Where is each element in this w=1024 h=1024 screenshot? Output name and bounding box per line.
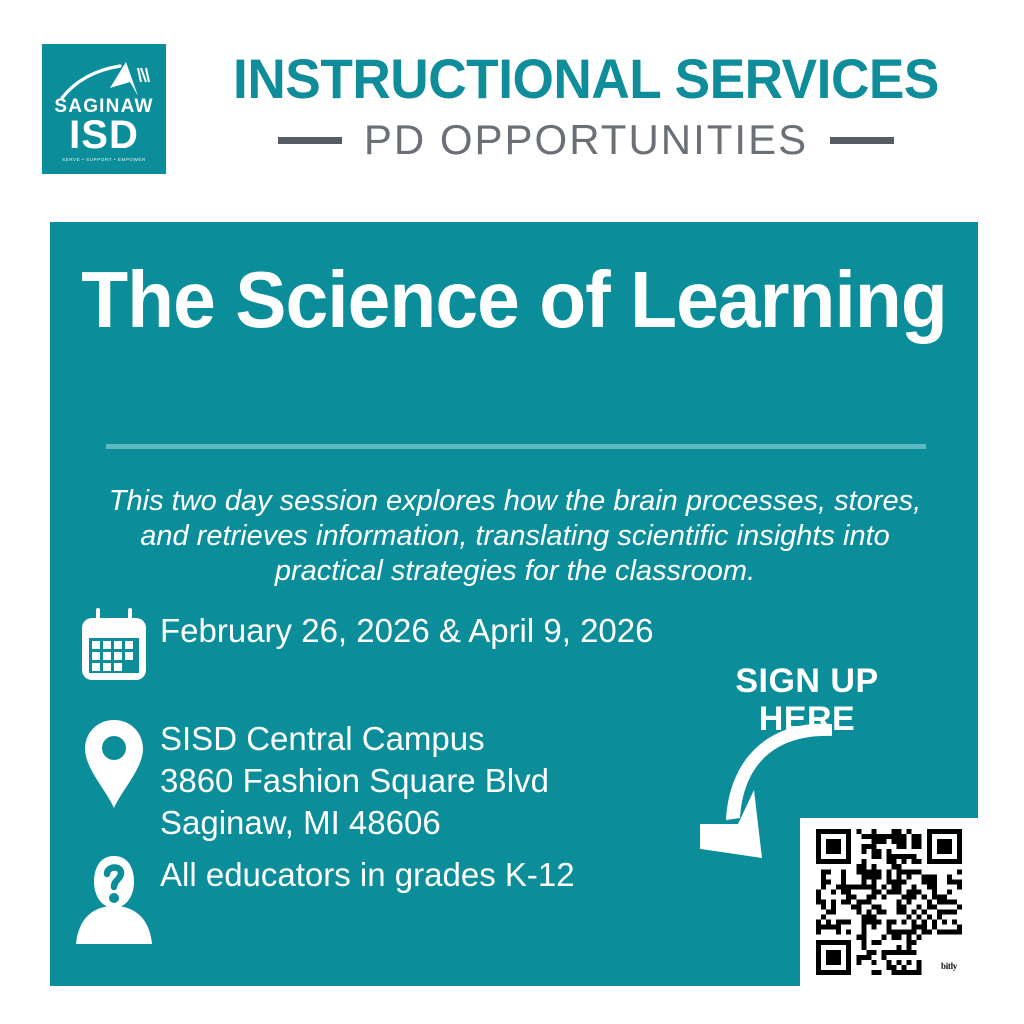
section-divider [106, 444, 926, 449]
qr-code[interactable] [816, 829, 962, 975]
left-dash-divider [278, 137, 342, 144]
subtitle-row: PD OPPORTUNITIES [190, 116, 982, 164]
info-row-date: February 26, 2026 & April 9, 2026 [68, 608, 654, 684]
poster-header: SAGINAW ISD SERVE • SUPPORT • EMPOWER IN… [42, 44, 982, 184]
session-title: The Science of Learning [69, 258, 960, 342]
header-text-block: INSTRUCTIONAL SERVICES PD OPPORTUNITIES [166, 44, 982, 164]
location-pin-icon [68, 716, 160, 812]
flyer-poster: SAGINAW ISD SERVE • SUPPORT • EMPOWER IN… [0, 0, 1024, 1024]
session-panel: The Science of Learning This two day ses… [50, 222, 978, 986]
qr-code-inner[interactable]: bitly [816, 829, 962, 975]
right-dash-divider [830, 137, 894, 144]
location-text: SISD Central Campus 3860 Fashion Square … [160, 716, 549, 844]
qr-brand-label: bitly [939, 961, 959, 971]
logo-name-main: ISD [42, 114, 166, 156]
session-description: This two day session explores how the br… [90, 484, 940, 589]
info-row-location: SISD Central Campus 3860 Fashion Square … [68, 716, 549, 844]
logo-tagline: SERVE • SUPPORT • EMPOWER [42, 157, 166, 162]
audience-text: All educators in grades K-12 [160, 852, 575, 896]
page-title: INSTRUCTIONAL SERVICES [210, 48, 962, 110]
date-text: February 26, 2026 & April 9, 2026 [160, 608, 654, 652]
qr-code-card[interactable]: bitly [800, 818, 978, 986]
info-row-audience: All educators in grades K-12 [68, 852, 575, 948]
page-subtitle: PD OPPORTUNITIES [364, 116, 808, 164]
calendar-icon [68, 608, 160, 684]
saginaw-isd-logo: SAGINAW ISD SERVE • SUPPORT • EMPOWER [42, 44, 166, 174]
person-question-icon [68, 852, 160, 948]
